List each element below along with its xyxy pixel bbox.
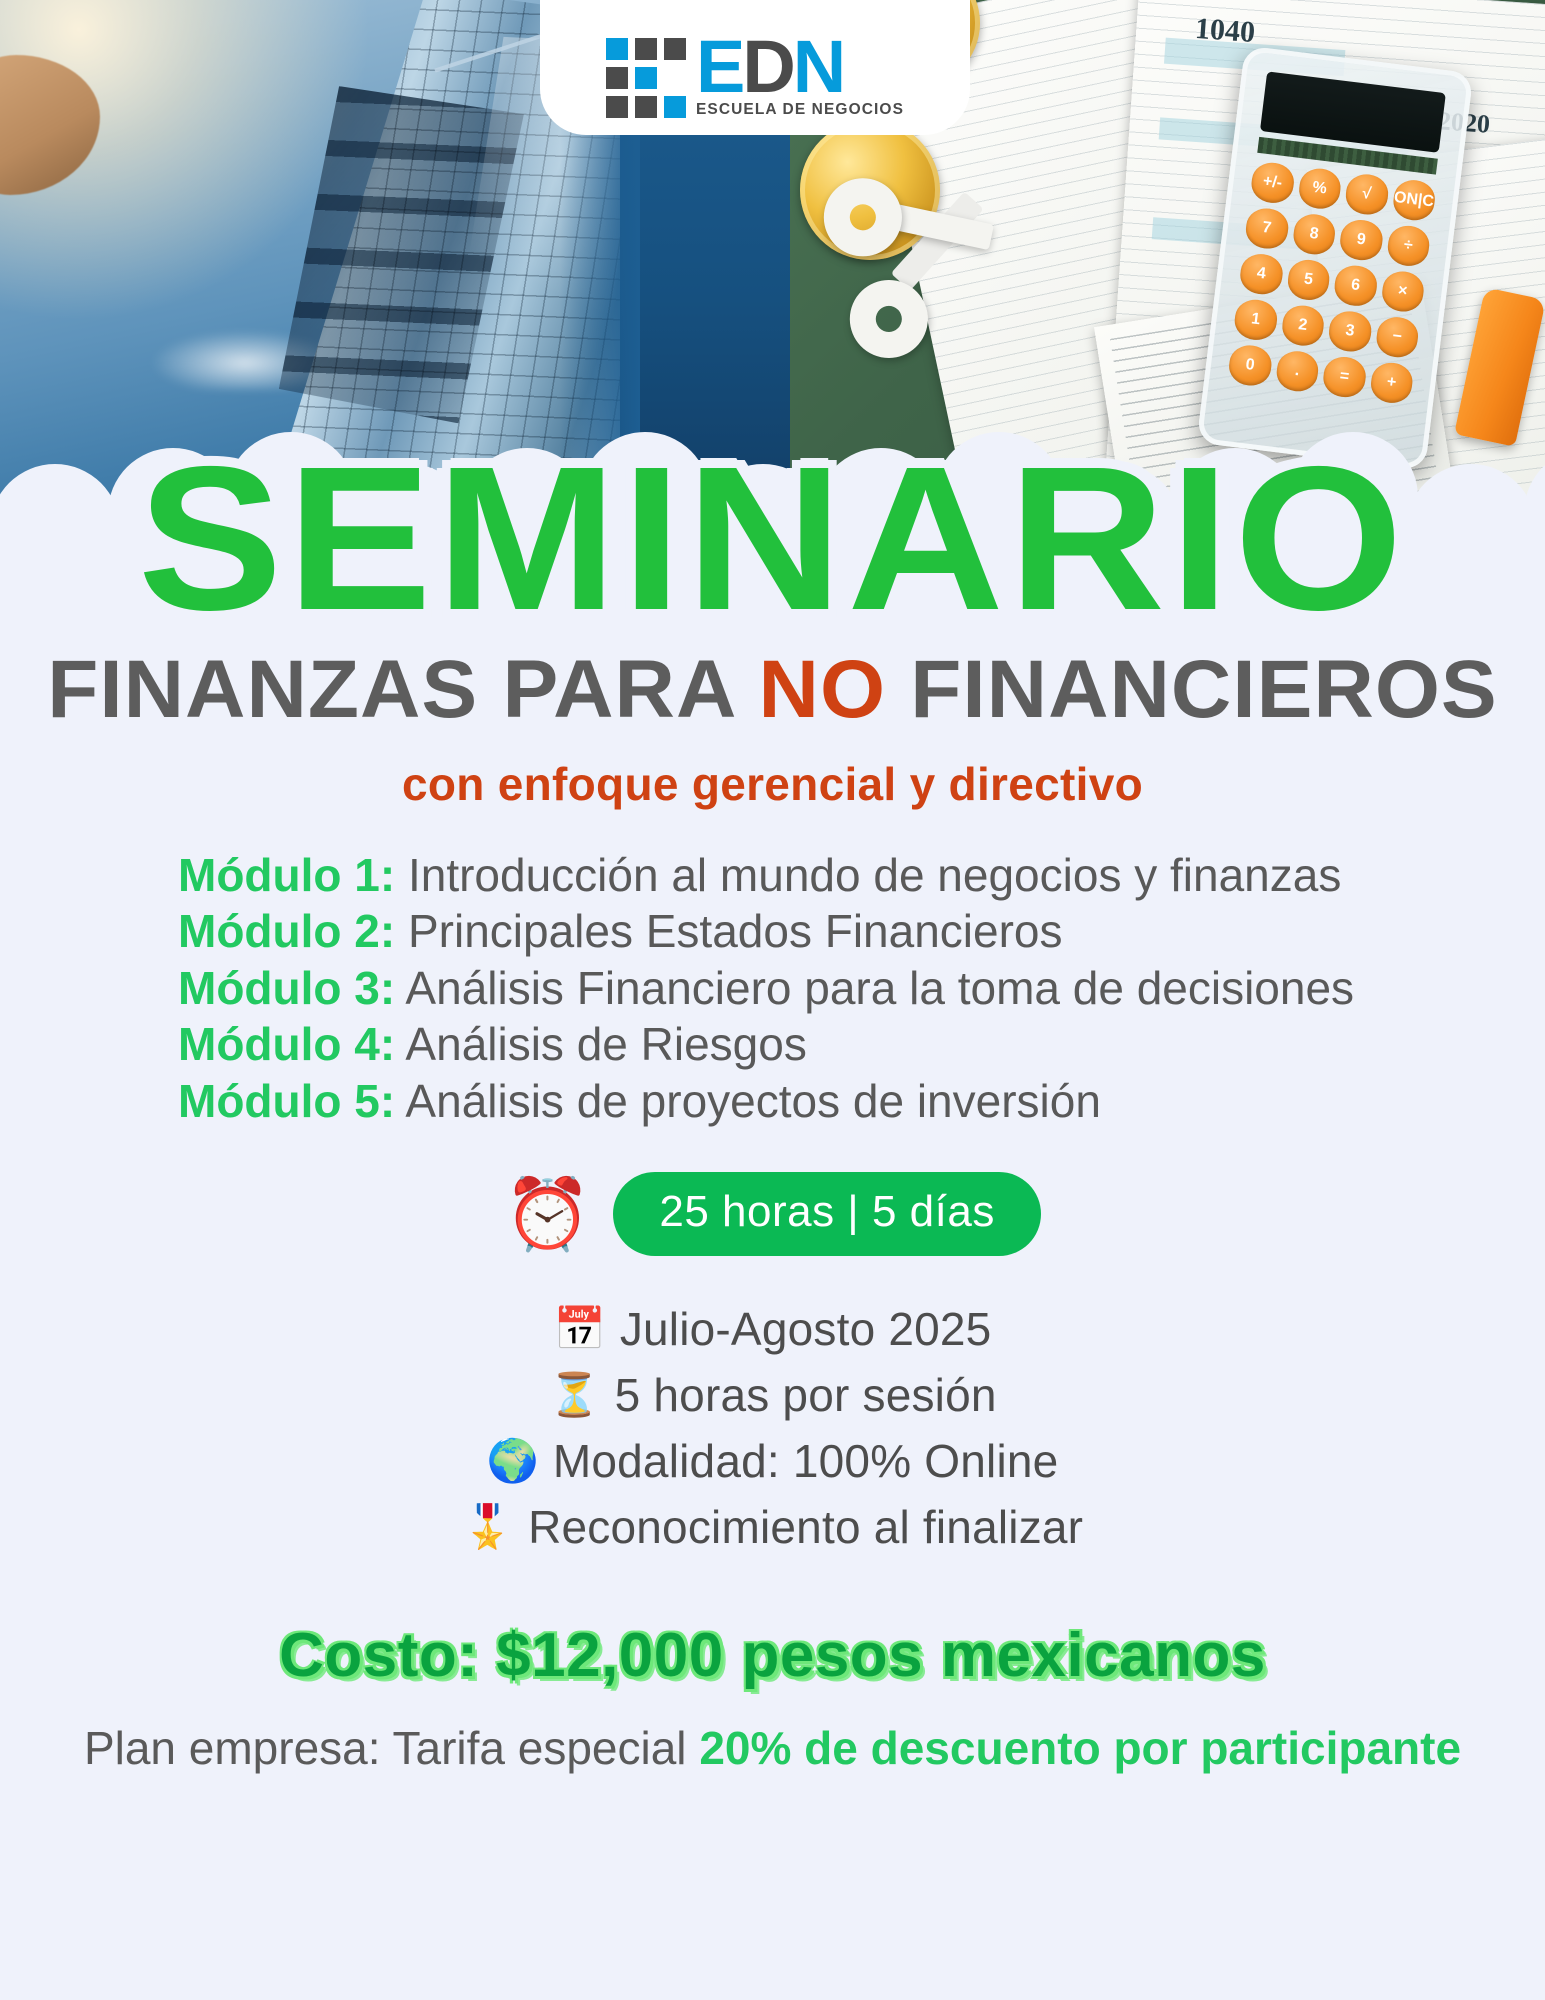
hourglass-icon: ⏳	[548, 1374, 600, 1416]
poster-subtitle: FINANZAS PARA NO FINANCIEROS	[0, 649, 1545, 731]
calculator-key: +	[1368, 360, 1414, 405]
detail-row: 📅Julio-Agosto 2025	[0, 1302, 1545, 1356]
logo-card: EDN ESCUELA DE NEGOCIOS	[540, 0, 970, 135]
plan-line: Plan empresa: Tarifa especial 20% de des…	[0, 1721, 1545, 1775]
calculator-key: ÷	[1385, 223, 1431, 268]
subtitle-highlight-no: NO	[759, 644, 887, 735]
module-description: Principales Estados Financieros	[395, 905, 1062, 957]
detail-text: Julio-Agosto 2025	[620, 1302, 992, 1356]
calendar-icon: 📅	[554, 1308, 606, 1350]
globe-icon: 🌍	[487, 1440, 539, 1482]
plan-prefix: Plan empresa: Tarifa especial	[84, 1722, 699, 1774]
calculator-key: −	[1374, 315, 1420, 360]
module-row: Módulo 1: Introducción al mundo de negoc…	[178, 847, 1418, 904]
calculator-key: 8	[1291, 212, 1337, 257]
logo-square-empty	[664, 67, 686, 89]
module-label: Módulo 5:	[178, 1075, 395, 1127]
alarm-clock-icon: ⏰	[504, 1179, 591, 1249]
calculator-key: 3	[1327, 309, 1373, 354]
medal-icon: 🎖️	[462, 1506, 514, 1548]
logo-square	[606, 96, 628, 118]
module-list: Módulo 1: Introducción al mundo de negoc…	[178, 847, 1418, 1130]
calculator-keypad: +/-%√ON|C789÷456×123−0.=+	[1223, 160, 1441, 406]
logo-subtitle: ESCUELA DE NEGOCIOS	[696, 101, 904, 119]
calculator-key: ×	[1380, 269, 1426, 314]
module-row: Módulo 5: Análisis de proyectos de inver…	[178, 1073, 1418, 1130]
module-description: Introducción al mundo de negocios y fina…	[395, 849, 1341, 901]
duration-badge: 25 horas | 5 días	[613, 1172, 1040, 1256]
module-row: Módulo 2: Principales Estados Financiero…	[178, 903, 1418, 960]
logo-letters: EDN	[696, 37, 843, 98]
detail-row: 🌍Modalidad: 100% Online	[0, 1434, 1545, 1488]
logo-square	[635, 67, 657, 89]
logo-square	[606, 38, 628, 60]
calculator-key: √	[1344, 172, 1390, 217]
logo-square	[635, 38, 657, 60]
logo-square	[664, 96, 686, 118]
page-title: SEMINARIO	[0, 442, 1545, 637]
subtitle-prefix: FINANZAS PARA	[47, 644, 758, 735]
detail-list: 📅Julio-Agosto 2025⏳5 horas por sesión🌍Mo…	[0, 1302, 1545, 1554]
plan-discount: 20% de descuento por participante	[699, 1722, 1461, 1774]
logo-square	[664, 38, 686, 60]
detail-text: 5 horas por sesión	[615, 1368, 997, 1422]
logo-letter-n: N	[793, 25, 843, 108]
module-description: Análisis de Riesgos	[395, 1018, 807, 1070]
detail-text: Reconocimiento al finalizar	[528, 1500, 1083, 1554]
module-label: Módulo 4:	[178, 1018, 395, 1070]
calculator-key: 0	[1227, 343, 1273, 388]
module-row: Módulo 4: Análisis de Riesgos	[178, 1016, 1418, 1073]
edn-logo: EDN ESCUELA DE NEGOCIOS	[606, 37, 904, 119]
calculator-key: 7	[1244, 206, 1290, 251]
poster-content: SEMINARIO FINANZAS PARA NO FINANCIEROS c…	[0, 480, 1545, 1775]
subtitle-suffix: FINANCIEROS	[886, 644, 1498, 735]
module-description: Análisis de proyectos de inversión	[395, 1075, 1101, 1127]
detail-row: 🎖️Reconocimiento al finalizar	[0, 1500, 1545, 1554]
logo-letter-e: E	[696, 25, 742, 108]
calculator-key: 2	[1280, 303, 1326, 348]
calculator-key: 6	[1332, 263, 1378, 308]
calculator-key: 5	[1285, 258, 1331, 303]
module-label: Módulo 1:	[178, 849, 395, 901]
detail-row: ⏳5 horas por sesión	[0, 1368, 1545, 1422]
logo-square	[606, 67, 628, 89]
calculator-key: 1	[1233, 297, 1279, 342]
calculator-key: %	[1297, 166, 1343, 211]
logo-square-grid-icon	[606, 38, 686, 118]
logo-letter-d: D	[742, 25, 792, 108]
calculator-key: 9	[1338, 218, 1384, 263]
logo-square	[635, 96, 657, 118]
price-line: Costo: $12,000 pesos mexicanos	[0, 1620, 1545, 1691]
poster-tagline: con enfoque gerencial y directivo	[0, 757, 1545, 811]
form-number-label: 1040	[1194, 12, 1256, 50]
calculator: +/-%√ON|C789÷456×123−0.=+	[1196, 45, 1473, 470]
module-label: Módulo 3:	[178, 962, 395, 1014]
duration-row: ⏰ 25 horas | 5 días	[0, 1172, 1545, 1256]
module-row: Módulo 3: Análisis Financiero para la to…	[178, 960, 1418, 1017]
calculator-key: =	[1321, 355, 1367, 400]
calculator-key: .	[1274, 349, 1320, 394]
calculator-key: 4	[1238, 252, 1284, 297]
calculator-key: +/-	[1249, 160, 1295, 205]
detail-text: Modalidad: 100% Online	[553, 1434, 1059, 1488]
logo-wordmark: EDN ESCUELA DE NEGOCIOS	[696, 37, 904, 119]
module-description: Análisis Financiero para la toma de deci…	[395, 962, 1354, 1014]
module-label: Módulo 2:	[178, 905, 395, 957]
calculator-key: ON|C	[1391, 178, 1437, 223]
